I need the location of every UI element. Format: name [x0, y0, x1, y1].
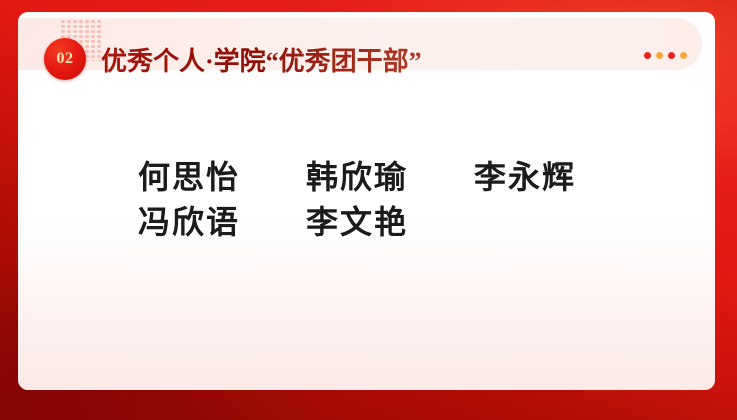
- honoree-name: 何思怡: [138, 152, 306, 198]
- honoree-name: 冯欣语: [138, 197, 306, 243]
- section-number-badge: 02: [44, 38, 86, 80]
- slide-root: 02 优秀个人·学院“优秀团干部” 何思怡 韩欣瑜 李永辉 冯欣语 李文艳: [0, 0, 737, 420]
- honoree-name: 李永辉: [474, 152, 642, 198]
- name-row: 何思怡 韩欣瑜 李永辉: [138, 152, 715, 197]
- honoree-name: 李文艳: [306, 197, 474, 243]
- honoree-name-list: 何思怡 韩欣瑜 李永辉 冯欣语 李文艳: [18, 152, 715, 242]
- decor-dot-3-icon: [668, 52, 675, 59]
- section-number-label: 02: [57, 50, 74, 68]
- decor-dot-1-icon: [644, 52, 651, 59]
- content-panel: 02 优秀个人·学院“优秀团干部” 何思怡 韩欣瑜 李永辉 冯欣语 李文艳: [18, 12, 715, 390]
- honoree-name: 韩欣瑜: [306, 152, 474, 198]
- page-title: 优秀个人·学院“优秀团干部”: [101, 38, 422, 80]
- decorative-dots: [644, 52, 687, 59]
- decor-dot-4-icon: [680, 52, 687, 59]
- name-row: 冯欣语 李文艳: [138, 197, 715, 242]
- decor-dot-2-icon: [656, 52, 663, 59]
